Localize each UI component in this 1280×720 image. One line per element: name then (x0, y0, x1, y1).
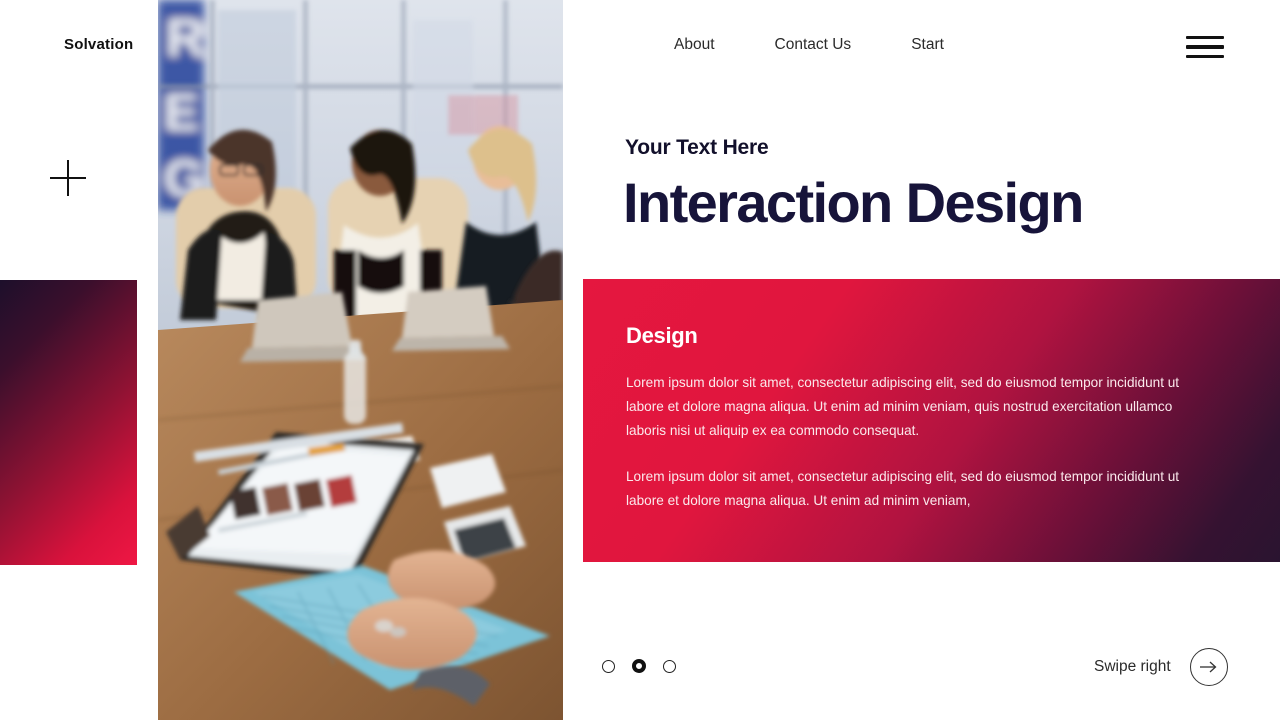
nav-item-start[interactable]: Start (911, 36, 944, 54)
hamburger-menu-icon[interactable] (1186, 36, 1224, 58)
decor-gradient-block (0, 280, 137, 565)
carousel-dots (602, 659, 676, 673)
panel-paragraph-2: Lorem ipsum dolor sit amet, consectetur … (626, 465, 1201, 513)
design-panel: Design Lorem ipsum dolor sit amet, conse… (583, 279, 1280, 562)
swipe-label: Swipe right (1094, 658, 1171, 676)
hamburger-bar (1186, 36, 1224, 39)
arrow-right-icon[interactable] (1190, 648, 1228, 686)
hamburger-bar (1186, 45, 1224, 48)
main-navigation: About Contact Us Start (674, 36, 944, 54)
panel-paragraph-1: Lorem ipsum dolor sit amet, consectetur … (626, 371, 1201, 443)
hamburger-bar (1186, 55, 1224, 58)
nav-item-about[interactable]: About (674, 36, 715, 54)
plus-icon (50, 160, 86, 196)
hero-page: R E G (0, 0, 1280, 720)
nav-item-contact-us[interactable]: Contact Us (775, 36, 852, 54)
carousel-dot-3[interactable] (663, 660, 676, 673)
carousel-dot-1[interactable] (602, 660, 615, 673)
carousel-dot-2-active[interactable] (632, 659, 646, 673)
panel-title: Design (626, 323, 1280, 349)
brand-logo[interactable]: Solvation (64, 36, 133, 53)
svg-text:R: R (166, 8, 205, 68)
office-meeting-photo: R E G (158, 0, 563, 720)
swipe-control[interactable]: Swipe right (1094, 648, 1228, 686)
hero-eyebrow: Your Text Here (625, 136, 768, 160)
svg-text:E: E (164, 84, 199, 142)
page-title: Interaction Design (623, 172, 1083, 234)
